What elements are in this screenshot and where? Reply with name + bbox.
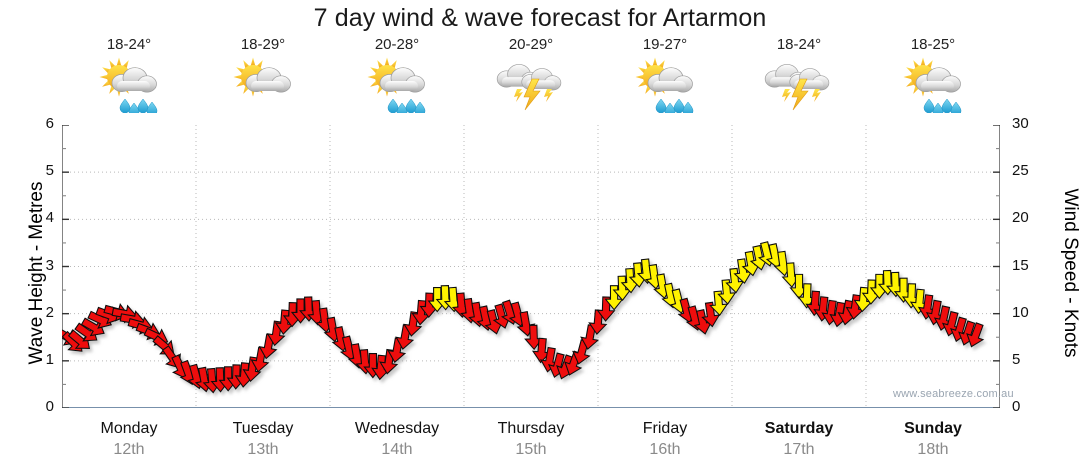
- cloud-lightning-icon: [763, 55, 835, 113]
- day-header-wednesday: 20-28°: [330, 36, 464, 126]
- day-footer-saturday: Saturday17th: [732, 418, 866, 470]
- plot-area: [62, 125, 1000, 408]
- temperature-range: 18-25°: [911, 36, 955, 53]
- temperature-range: 19-27°: [643, 36, 687, 53]
- day-footer-monday: Monday12th: [62, 418, 196, 470]
- day-header-sunday: 18-25°: [866, 36, 1000, 126]
- day-name: Sunday: [866, 418, 1000, 439]
- day-date: 12th: [62, 439, 196, 461]
- day-name: Saturday: [732, 418, 866, 439]
- left-tick-1: 1: [20, 351, 54, 368]
- day-date: 16th: [598, 439, 732, 461]
- sun-cloud-rain-icon: [897, 55, 969, 113]
- right-tick-15: 15: [1012, 257, 1052, 274]
- day-header-monday: 18-24°: [62, 36, 196, 126]
- temperature-range: 18-24°: [777, 36, 821, 53]
- left-tick-5: 5: [20, 162, 54, 179]
- weather-icon-sunday: [897, 55, 969, 113]
- weather-icon-wednesday: [361, 55, 433, 113]
- day-header-thursday: 20-29°: [464, 36, 598, 126]
- weather-icon-saturday: [763, 55, 835, 113]
- sun-cloud-rain-icon: [361, 55, 433, 113]
- weather-icon-tuesday: [227, 55, 299, 113]
- temperature-range: 20-29°: [509, 36, 553, 53]
- day-header-saturday: 18-24°: [732, 36, 866, 126]
- temperature-range: 20-28°: [375, 36, 419, 53]
- wind-wave-forecast-chart: 7 day wind & wave forecast for Artarmon …: [0, 0, 1080, 475]
- right-tick-5: 5: [1012, 351, 1052, 368]
- day-name: Thursday: [464, 418, 598, 439]
- day-header-tuesday: 18-29°: [196, 36, 330, 126]
- wind-arrow-group: [62, 241, 988, 394]
- right-tick-10: 10: [1012, 304, 1052, 321]
- day-date: 17th: [732, 439, 866, 461]
- day-footer-thursday: Thursday15th: [464, 418, 598, 470]
- page-title: 7 day wind & wave forecast for Artarmon: [0, 4, 1080, 33]
- left-tick-4: 4: [20, 209, 54, 226]
- day-date: 13th: [196, 439, 330, 461]
- left-tick-3: 3: [20, 257, 54, 274]
- sun-cloud-rain-icon: [93, 55, 165, 113]
- right-axis-title: Wind Speed - Knots: [1059, 128, 1080, 418]
- temperature-range: 18-24°: [107, 36, 151, 53]
- right-tick-20: 20: [1012, 209, 1052, 226]
- day-name: Tuesday: [196, 418, 330, 439]
- day-date: 18th: [866, 439, 1000, 461]
- day-date: 15th: [464, 439, 598, 461]
- day-footer-wednesday: Wednesday14th: [330, 418, 464, 470]
- day-name: Friday: [598, 418, 732, 439]
- day-footer-row: Monday12thTuesday13thWednesday14thThursd…: [62, 418, 1000, 470]
- right-tick-30: 30: [1012, 115, 1052, 132]
- day-footer-tuesday: Tuesday13th: [196, 418, 330, 470]
- sun-cloud-icon: [227, 55, 299, 113]
- day-footer-friday: Friday16th: [598, 418, 732, 470]
- right-tick-0: 0: [1012, 398, 1052, 415]
- day-header-friday: 19-27°: [598, 36, 732, 126]
- day-date: 14th: [330, 439, 464, 461]
- weather-icon-monday: [93, 55, 165, 113]
- left-tick-0: 0: [20, 398, 54, 415]
- left-tick-2: 2: [20, 304, 54, 321]
- weather-icon-thursday: [495, 55, 567, 113]
- temperature-range: 18-29°: [241, 36, 285, 53]
- weather-icon-friday: [629, 55, 701, 113]
- day-header-row: 18-24°18-29°20-28°20-29°19-27°18-24°18-2…: [62, 36, 1000, 126]
- day-footer-sunday: Sunday18th: [866, 418, 1000, 470]
- wind-arrow-plot: [62, 125, 1000, 408]
- cloud-lightning-icon: [495, 55, 567, 113]
- right-tick-25: 25: [1012, 162, 1052, 179]
- watermark: www.seabreeze.com.au: [893, 388, 1014, 400]
- day-name: Monday: [62, 418, 196, 439]
- left-tick-6: 6: [20, 115, 54, 132]
- sun-cloud-rain-icon: [629, 55, 701, 113]
- day-name: Wednesday: [330, 418, 464, 439]
